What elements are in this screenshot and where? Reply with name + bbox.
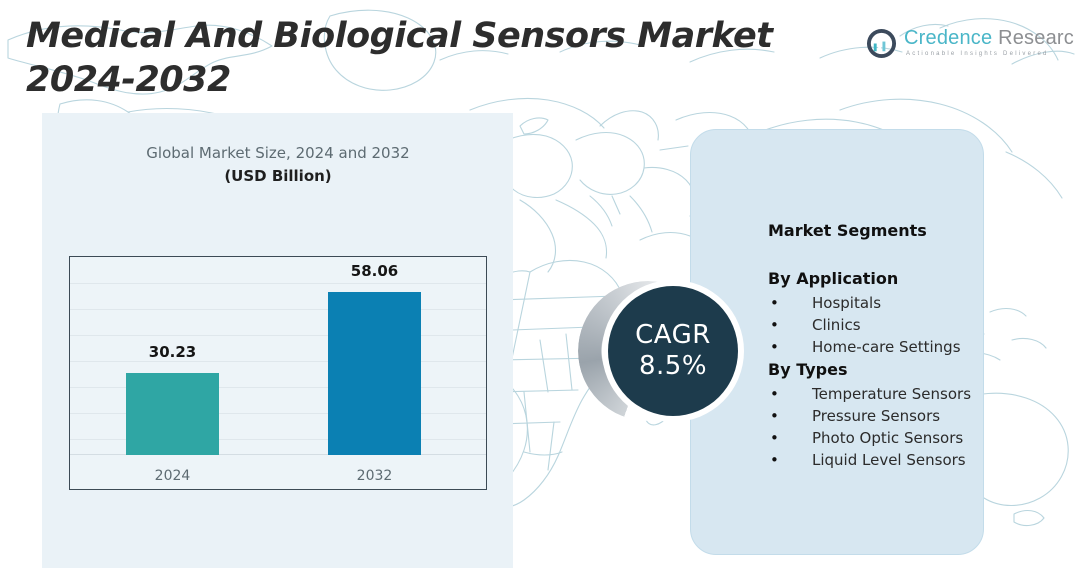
market-segments-title: Market Segments xyxy=(768,221,1008,240)
credence-bar-chart-circle-icon xyxy=(866,28,897,59)
segment-item-label: Temperature Sensors xyxy=(812,385,971,403)
bar-rect-2024 xyxy=(126,373,219,455)
cagr-badge: CAGR 8.5% xyxy=(578,281,754,421)
list-item: • Hospitals xyxy=(768,292,1008,314)
segment-item-label: Liquid Level Sensors xyxy=(812,451,966,469)
bullet-icon: • xyxy=(770,383,779,405)
market-size-bar-chart: 30.23 2024 58.06 2032 xyxy=(69,256,487,490)
segment-item-label: Hospitals xyxy=(812,294,881,312)
bullet-icon: • xyxy=(770,449,779,471)
segment-item-label: Home-care Settings xyxy=(812,338,961,356)
bullet-icon: • xyxy=(770,336,779,358)
bar-category-2032: 2032 xyxy=(328,468,421,484)
bullet-icon: • xyxy=(770,427,779,449)
segment-list-types: • Temperature Sensors • Pressure Sensors… xyxy=(768,383,1008,471)
list-item: • Pressure Sensors xyxy=(768,405,1008,427)
chart-plot-area: 30.23 2024 58.06 2032 xyxy=(70,257,486,489)
list-item: • Photo Optic Sensors xyxy=(768,427,1008,449)
page-title: Medical And Biological Sensors Market 20… xyxy=(26,14,786,102)
cagr-circle: CAGR 8.5% xyxy=(608,286,738,416)
logo-tagline: Actionable Insights Delivered xyxy=(904,49,1075,59)
logo-word-credence: Credence xyxy=(904,27,992,49)
page-title-line-1: Medical And Biological Sensors Market xyxy=(26,14,786,58)
list-item: • Temperature Sensors xyxy=(768,383,1008,405)
credence-research-logo: Credence Research Actionable Insights De… xyxy=(866,27,1075,59)
bar-rect-2032 xyxy=(328,292,421,455)
chart-caption-line-1: Global Market Size, 2024 and 2032 xyxy=(68,142,488,164)
infographic-root: Medical And Biological Sensors Market 20… xyxy=(0,0,1075,568)
list-item: • Liquid Level Sensors xyxy=(768,449,1008,471)
list-item: • Home-care Settings xyxy=(768,336,1008,358)
bullet-icon: • xyxy=(770,292,779,314)
bar-2024: 30.23 2024 xyxy=(126,373,219,455)
list-item: • Clinics xyxy=(768,314,1008,336)
segment-item-label: Pressure Sensors xyxy=(812,407,940,425)
cagr-value: 8.5% xyxy=(639,350,707,382)
bar-category-2024: 2024 xyxy=(126,468,219,484)
chart-caption: Global Market Size, 2024 and 2032 (USD B… xyxy=(68,142,488,188)
bullet-icon: • xyxy=(770,405,779,427)
market-segments-content: Market Segments By Application • Hospita… xyxy=(768,221,1008,471)
segment-group-heading-types: By Types xyxy=(768,358,1008,382)
chart-caption-line-2: (USD Billion) xyxy=(68,164,488,188)
segment-item-label: Photo Optic Sensors xyxy=(812,429,963,447)
segment-item-label: Clinics xyxy=(812,316,861,334)
page-title-line-2: 2024-2032 xyxy=(26,58,786,102)
bar-value-2024: 30.23 xyxy=(126,343,219,361)
bar-value-2032: 58.06 xyxy=(328,262,421,280)
logo-word-research: Research xyxy=(998,27,1075,49)
bar-2032: 58.06 2032 xyxy=(328,292,421,455)
logo-wordmark: Credence Research Actionable Insights De… xyxy=(904,27,1075,59)
segment-group-heading-application: By Application xyxy=(768,267,1008,291)
cagr-label: CAGR xyxy=(635,320,711,350)
bullet-icon: • xyxy=(770,314,779,336)
segment-list-application: • Hospitals • Clinics • Home-care Settin… xyxy=(768,292,1008,358)
logo-brand-line: Credence Research xyxy=(904,27,1075,49)
